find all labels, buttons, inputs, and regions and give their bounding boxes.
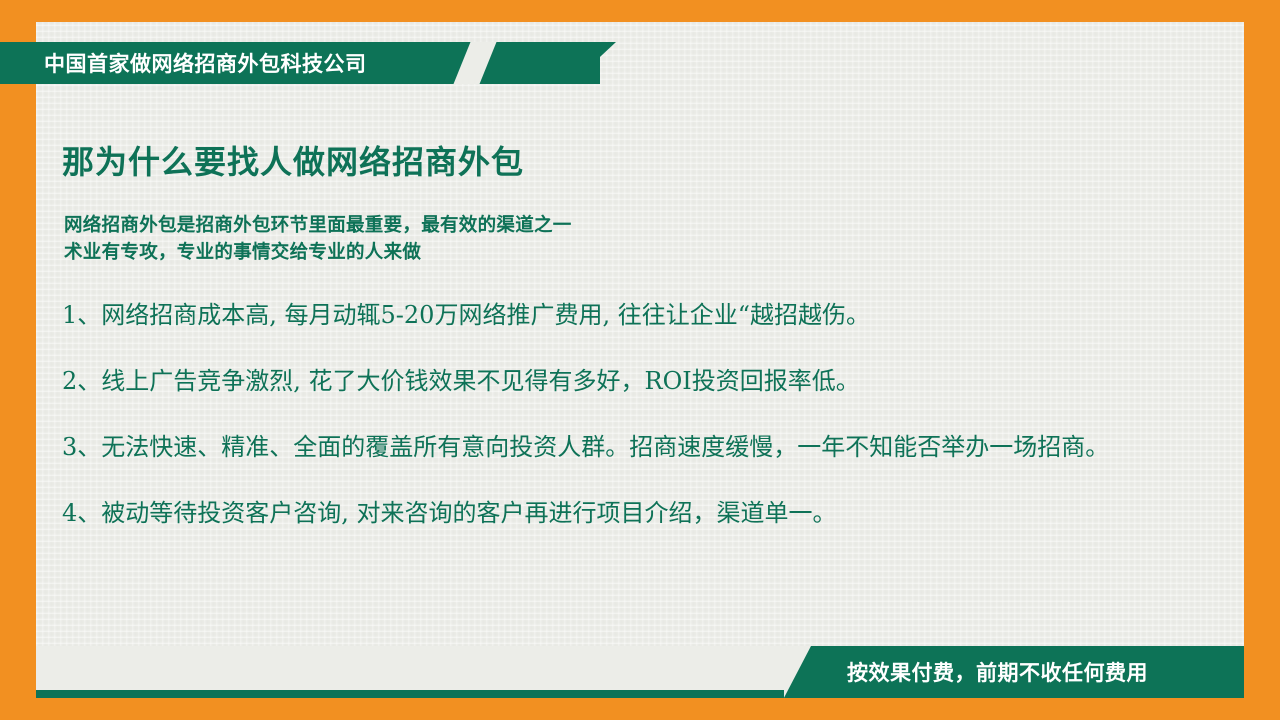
bottom-bar-text: 按效果付费，前期不收任何费用: [847, 657, 1148, 687]
body-paragraph-1: 1、网络招商成本高, 每月动辄5-20万网络推广费用, 往往让企业“越招越伤。: [62, 297, 1192, 333]
page-title: 那为什么要找人做网络招商外包: [62, 137, 524, 183]
bottom-bar-sliver: [36, 690, 784, 698]
body-text: 1、网络招商成本高, 每月动辄5-20万网络推广费用, 往往让企业“越招越伤。 …: [62, 297, 1192, 531]
body-paragraph-2: 2、线上广告竞争激烈, 花了大价钱效果不见得有多好，ROI投资回报率低。: [62, 363, 1192, 399]
body-paragraph-4: 4、被动等待投资客户咨询, 对来咨询的客户再进行项目介绍，渠道单一。: [62, 495, 1192, 531]
subtitle-block: 网络招商外包是招商外包环节里面最重要，最有效的渠道之一 术业有专攻，专业的事情交…: [64, 211, 572, 265]
bottom-bar: 按效果付费，前期不收任何费用: [36, 646, 1244, 698]
bottom-bar-notch: [36, 646, 811, 698]
top-banner-text: 中国首家做网络招商外包科技公司: [44, 48, 367, 78]
slide: 中国首家做网络招商外包科技公司 那为什么要找人做网络招商外包 网络招商外包是招商…: [0, 0, 1280, 720]
body-paragraph-3: 3、无法快速、精准、全面的覆盖所有意向投资人群。招商速度缓慢，一年不知能否举办一…: [62, 429, 1192, 465]
subtitle-line-2: 术业有专攻，专业的事情交给专业的人来做: [64, 238, 572, 265]
subtitle-line-1: 网络招商外包是招商外包环节里面最重要，最有效的渠道之一: [64, 211, 572, 238]
top-banner: 中国首家做网络招商外包科技公司: [0, 42, 600, 84]
